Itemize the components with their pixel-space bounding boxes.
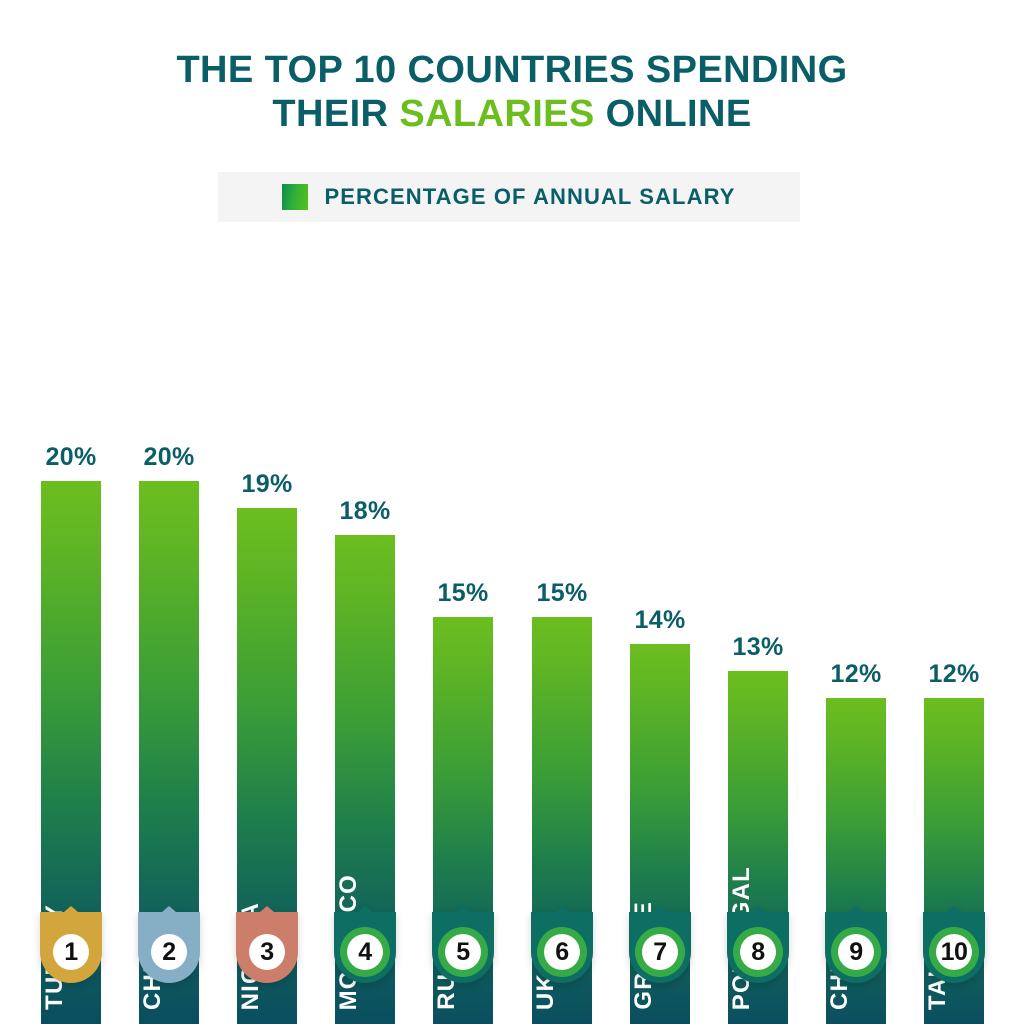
rank-badge: 8 (727, 906, 789, 984)
bar-column: 14%GREECE (630, 126, 690, 1024)
bar-value-label: 20% (46, 443, 97, 472)
bar-column: 19%NIGERIA (237, 126, 297, 1024)
bar-value-label: 20% (144, 443, 195, 472)
bar-column: 13%PORTUGAL (728, 126, 788, 1024)
bar-column: 18%MOROCCO (335, 126, 395, 1024)
rank-number: 3 (236, 932, 298, 972)
bar-value-label: 13% (733, 633, 784, 662)
bar-column: 12%TAIWAN (924, 126, 984, 1024)
rank-badge: 1 (40, 906, 102, 984)
bar-value-label: 12% (929, 660, 980, 689)
rank-number: 10 (923, 932, 985, 972)
bar-value-label: 19% (242, 470, 293, 499)
bar-column: 12%CHILE (826, 126, 886, 1024)
rank-number: 4 (334, 932, 396, 972)
bar-value-label: 18% (340, 497, 391, 526)
rank-number: 2 (138, 932, 200, 972)
bar-column: 20%TURKEY (41, 126, 101, 1024)
bar-value-label: 12% (831, 660, 882, 689)
bar-column: 20%CHINA (139, 126, 199, 1024)
bar-chart: 20%TURKEY120%CHINA219%NIGERIA318%MOROCCO… (0, 0, 1024, 1024)
rank-badge: 10 (923, 906, 985, 984)
bar-value-label: 15% (537, 579, 588, 608)
rank-number: 7 (629, 932, 691, 972)
rank-number: 8 (727, 932, 789, 972)
bar-column: 15%RUSSIA (433, 126, 493, 1024)
rank-badge: 4 (334, 906, 396, 984)
bar-value-label: 14% (635, 606, 686, 635)
rank-badge: 2 (138, 906, 200, 984)
rank-number: 9 (825, 932, 887, 972)
rank-number: 6 (531, 932, 593, 972)
bar-value-label: 15% (438, 579, 489, 608)
rank-badge: 7 (629, 906, 691, 984)
rank-badge: 9 (825, 906, 887, 984)
rank-badge: 3 (236, 906, 298, 984)
rank-number: 5 (432, 932, 494, 972)
rank-number: 1 (40, 932, 102, 972)
rank-badge: 5 (432, 906, 494, 984)
bar-column: 15%UK (532, 126, 592, 1024)
rank-badge: 6 (531, 906, 593, 984)
